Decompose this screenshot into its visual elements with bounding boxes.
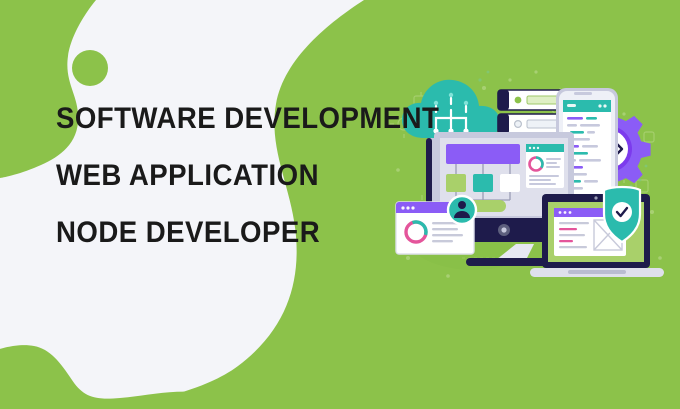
web-development-illustration xyxy=(388,62,676,297)
banner-graphic: SOFTWARE DEVELOPMENT WEB APPLICATION NOD… xyxy=(0,0,680,409)
headline-block: SOFTWARE DEVELOPMENT WEB APPLICATION NOD… xyxy=(56,104,386,248)
headline-line-2: WEB APPLICATION xyxy=(56,161,360,191)
screen-analytics-card xyxy=(526,144,564,188)
headline-line-3: NODE DEVELOPER xyxy=(56,218,360,248)
headline-line-1: SOFTWARE DEVELOPMENT xyxy=(56,104,360,134)
green-dot-shape xyxy=(72,50,108,86)
user-avatar-badge-icon xyxy=(448,196,476,224)
laptop-icon xyxy=(530,194,664,277)
